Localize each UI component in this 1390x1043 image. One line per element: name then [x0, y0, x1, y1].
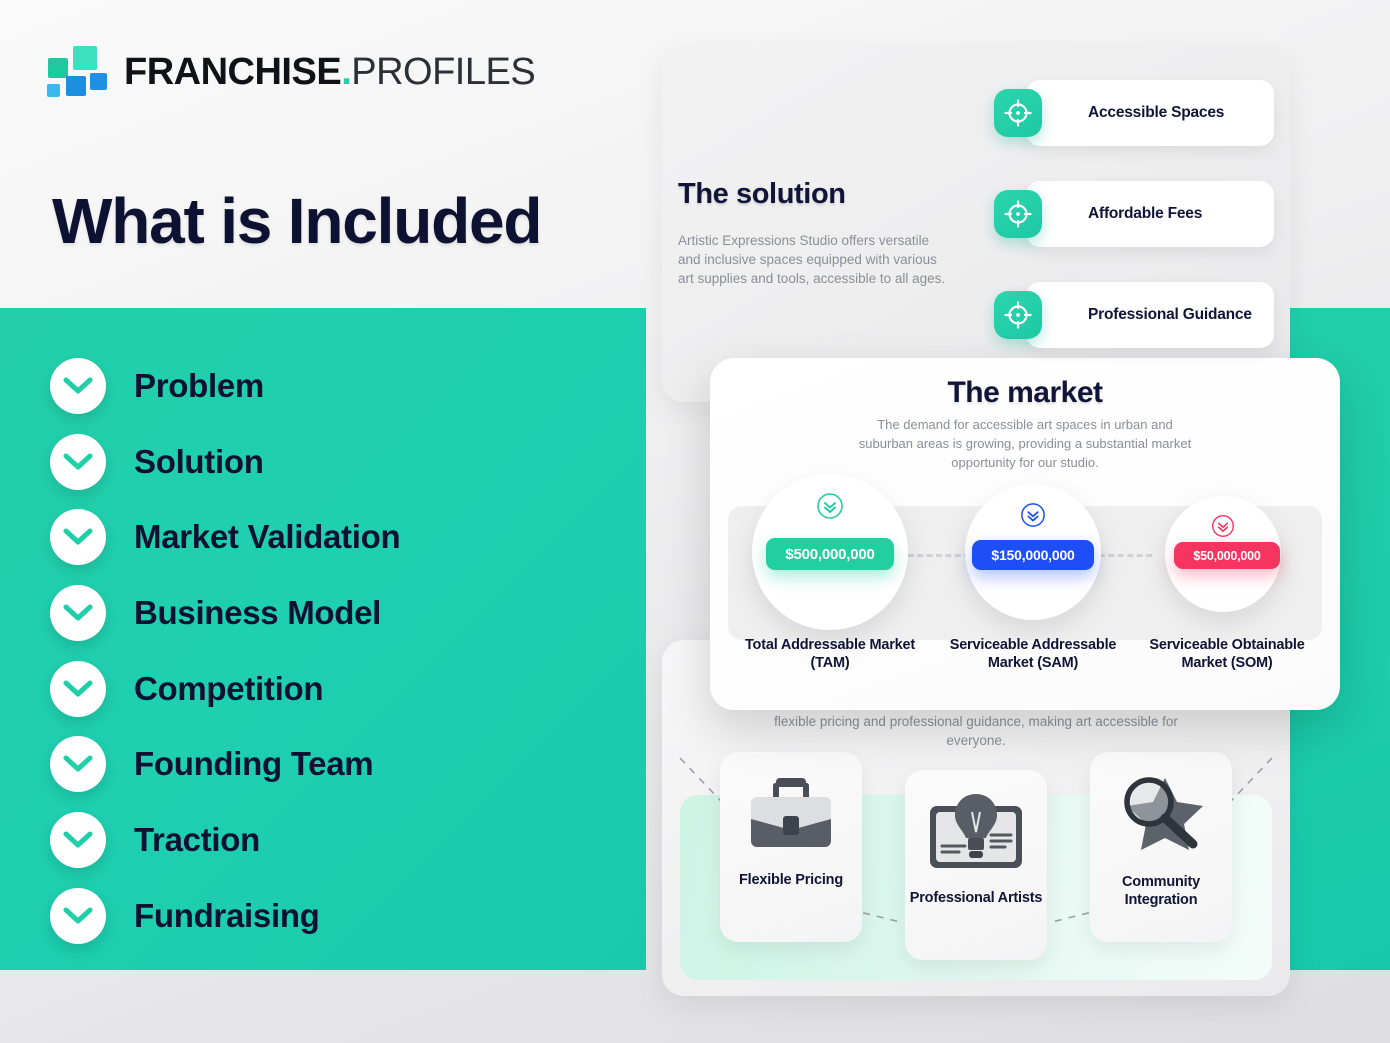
target-icon [994, 89, 1042, 137]
solution-feature-pill: Accessible Spaces [1026, 80, 1274, 146]
chevron-down-icon [50, 888, 106, 944]
chevron-down-icon [50, 434, 106, 490]
agenda-item-solution[interactable]: Solution [50, 424, 610, 500]
agenda-item-label: Competition [134, 670, 323, 708]
market-value-tam: $500,000,000 [766, 538, 894, 570]
solution-heading: The solution [678, 178, 846, 211]
tile-professional-artists[interactable]: Professional Artists [905, 770, 1047, 960]
solution-feature-label: Affordable Fees [1088, 205, 1202, 223]
market-caption-som: Serviceable Obtainable Market (SOM) [1138, 636, 1316, 672]
chevron-down-icon [50, 661, 106, 717]
chevron-down-icon [50, 585, 106, 641]
agenda-item-fundraising[interactable]: Fundraising [50, 878, 610, 954]
squares-logo-icon [46, 44, 106, 100]
agenda-item-traction[interactable]: Traction [50, 802, 610, 878]
double-chevron-down-icon [1211, 514, 1235, 543]
agenda-item-competition[interactable]: Competition [50, 651, 610, 727]
tile-community-integration[interactable]: Community Integration [1090, 752, 1232, 942]
agenda-item-label: Solution [134, 443, 264, 481]
magnifier-star-icon [1109, 772, 1213, 863]
brand-name-dot: . [341, 51, 351, 93]
agenda-item-market-validation[interactable]: Market Validation [50, 499, 610, 575]
brand-wordmark: FRANCHISE.PROFILES [124, 51, 535, 94]
solution-body-text: Artistic Expressions Studio offers versa… [678, 231, 948, 288]
chevron-down-icon [50, 812, 106, 868]
target-icon [994, 190, 1042, 238]
brand-name-thin: PROFILES [351, 51, 535, 93]
tile-flexible-pricing[interactable]: Flexible Pricing [720, 752, 862, 942]
page-title: What is Included [52, 186, 541, 256]
solution-card: The solution Artistic Expressions Studio… [662, 46, 1290, 402]
solution-feature-professional-guidance[interactable]: Professional Guidance [994, 282, 1274, 348]
chevron-down-icon [50, 358, 106, 414]
solution-feature-pill: Affordable Fees [1026, 181, 1274, 247]
chevron-down-icon [50, 736, 106, 792]
agenda-item-label: Market Validation [134, 518, 400, 556]
market-caption-tam: Total Addressable Market (TAM) [740, 636, 920, 672]
lightbulb-certificate-icon [925, 790, 1027, 879]
solution-feature-pill: Professional Guidance [1026, 282, 1274, 348]
agenda-item-label: Fundraising [134, 897, 320, 935]
agenda-item-label: Founding Team [134, 745, 373, 783]
double-chevron-down-icon [816, 492, 844, 525]
slide-canvas: FRANCHISE.PROFILES What is Included Prob… [0, 0, 1390, 1043]
target-icon [994, 291, 1042, 339]
chevron-down-icon [50, 509, 106, 565]
double-chevron-down-icon [1020, 502, 1046, 533]
agenda-item-problem[interactable]: Problem [50, 348, 610, 424]
tile-label: Flexible Pricing [739, 871, 843, 889]
solution-feature-label: Accessible Spaces [1088, 104, 1224, 122]
briefcase-icon [743, 772, 839, 861]
agenda-item-label: Problem [134, 367, 264, 405]
agenda-item-founding-team[interactable]: Founding Team [50, 726, 610, 802]
solution-feature-label: Professional Guidance [1088, 306, 1252, 324]
connector-tam-sam [908, 554, 970, 557]
agenda-item-label: Traction [134, 821, 260, 859]
brand-name-bold: FRANCHISE [124, 51, 341, 93]
market-subtitle: The demand for accessible art spaces in … [850, 416, 1200, 473]
market-value-sam: $150,000,000 [972, 540, 1094, 570]
brand-logo[interactable]: FRANCHISE.PROFILES [46, 44, 535, 100]
market-title: The market [710, 376, 1340, 410]
agenda-item-business-model[interactable]: Business Model [50, 575, 610, 651]
solution-feature-affordable-fees[interactable]: Affordable Fees [994, 181, 1274, 247]
solution-feature-accessible-spaces[interactable]: Accessible Spaces [994, 80, 1274, 146]
tile-label: Community Integration [1090, 873, 1232, 909]
market-caption-sam: Serviceable Addressable Market (SAM) [942, 636, 1124, 672]
market-value-som: $50,000,000 [1174, 542, 1280, 569]
agenda-item-label: Business Model [134, 594, 381, 632]
market-card: The market The demand for accessible art… [710, 358, 1340, 710]
tile-label: Professional Artists [910, 889, 1042, 907]
agenda-list: Problem Solution Market Validation Busin… [50, 348, 610, 954]
